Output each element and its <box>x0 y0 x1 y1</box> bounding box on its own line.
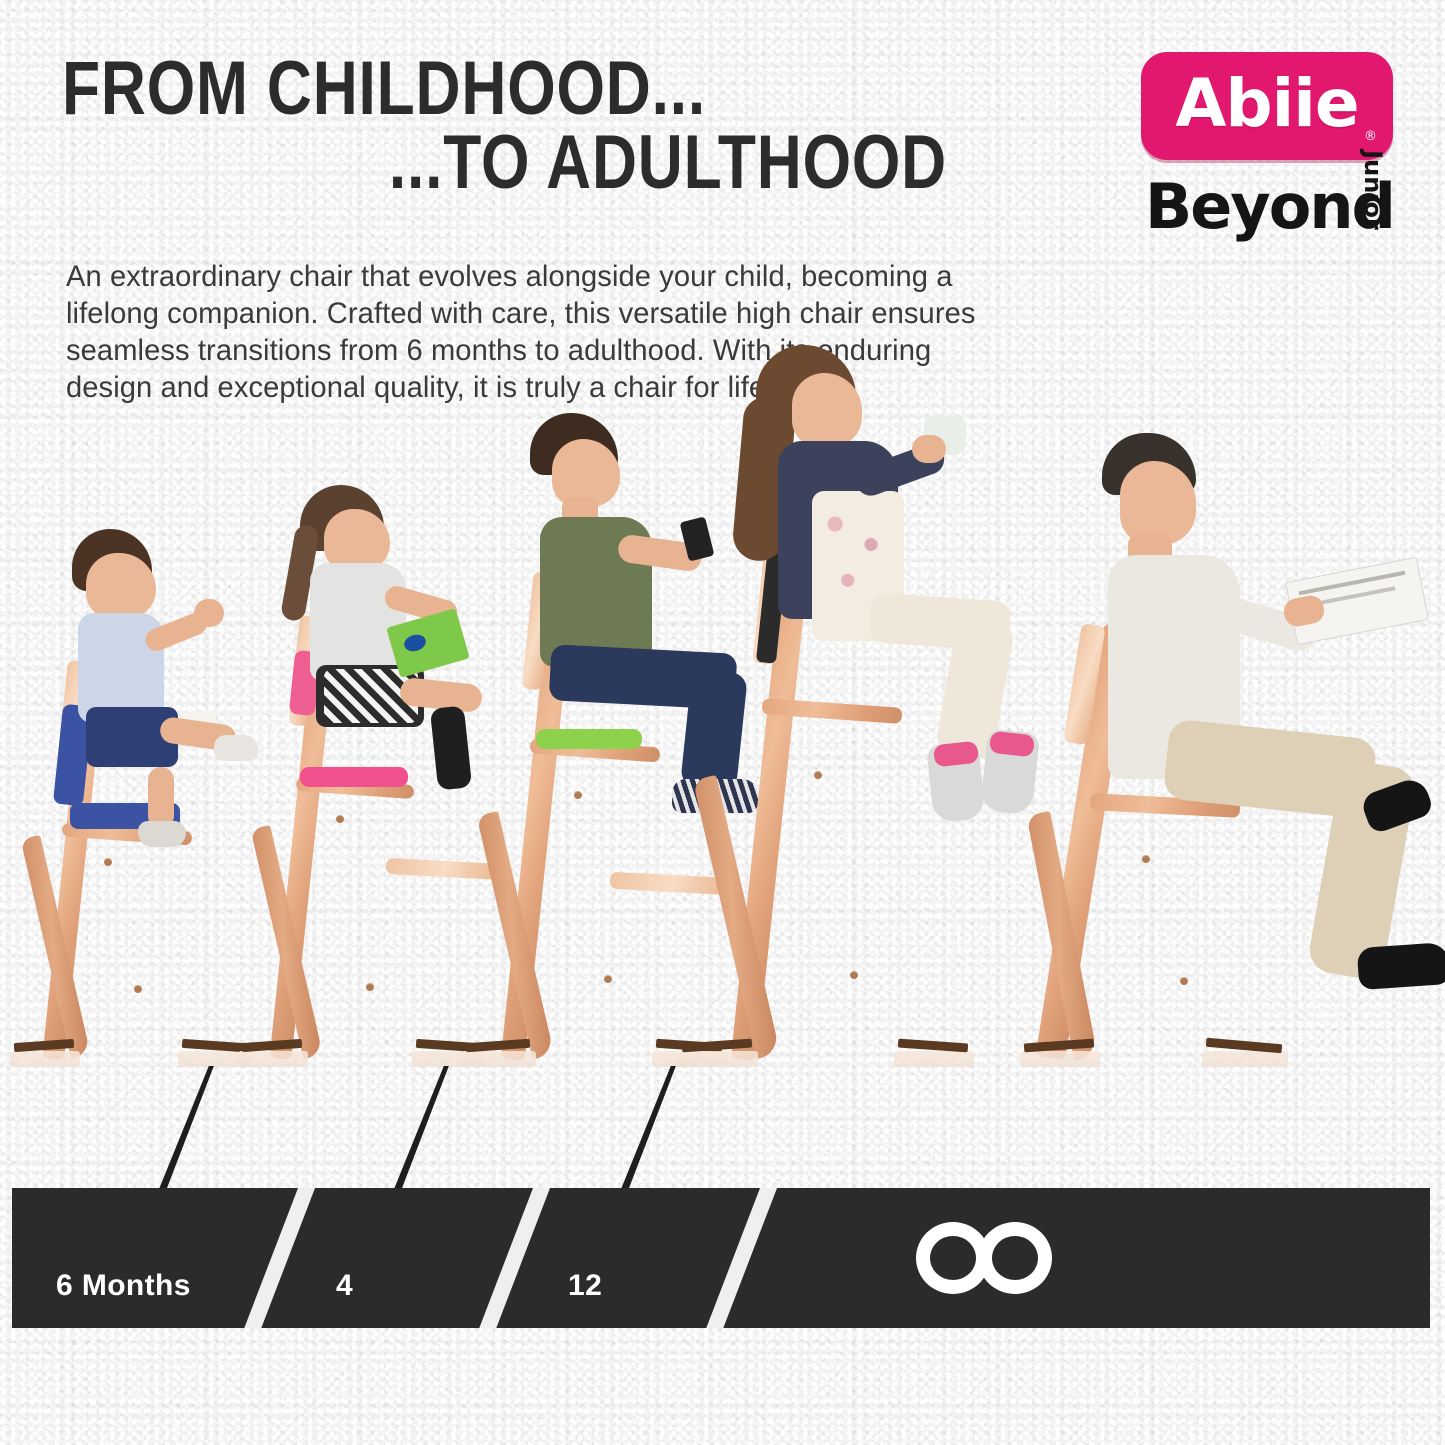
age-range-banner: 6 Months to 36 Months 4 Years Old 12 Yea… <box>12 1188 1430 1328</box>
person-baby <box>62 529 232 829</box>
banner-segment-toddler-line1: 4 <box>336 1269 353 1302</box>
girl-top <box>310 563 406 681</box>
chair-floor-pad-front <box>678 1051 758 1067</box>
banner-segment-child: 12 Years Old <box>568 1230 710 1328</box>
headline-block: FROM CHILDHOOD... ...TO ADULTHOOD <box>0 52 965 200</box>
logo-badge: Abiie ® <box>1141 52 1393 160</box>
chair-floor-pad-front <box>1020 1051 1100 1067</box>
baby-hand <box>194 599 224 627</box>
person-man <box>1072 433 1445 1033</box>
banner-segment-infant: 6 Months to 36 Months <box>56 1230 246 1328</box>
person-woman <box>734 345 1034 845</box>
figure-woman <box>678 475 1018 1075</box>
chair-screw <box>850 971 858 979</box>
figure-baby <box>10 475 270 1075</box>
brand-logo: Abiie ® Beyond Junior <box>1141 52 1409 252</box>
figure-man <box>1020 475 1440 1075</box>
man-sock-foot <box>1357 942 1445 990</box>
chair-floor-pad-rear <box>894 1051 974 1067</box>
logo-subtitle: Beyond Junior <box>1141 166 1409 252</box>
headline-line-2: ...TO ADULTHOOD <box>170 126 947 200</box>
chair-screw <box>134 985 142 993</box>
registered-trademark-icon: ® <box>1364 129 1377 144</box>
infinity-ring-right <box>978 1222 1052 1294</box>
chair-floor-pad-front <box>10 1051 80 1067</box>
banner-divider-2 <box>472 1188 554 1328</box>
chair-floor-pad-front <box>238 1051 308 1067</box>
chair-screw <box>104 858 112 866</box>
chair-screw <box>336 815 344 823</box>
chair-floor-pad-front <box>462 1051 536 1067</box>
infographic-page: FROM CHILDHOOD... ...TO ADULTHOOD An ext… <box>0 0 1445 1445</box>
woman-hand <box>912 435 946 463</box>
banner-segment-toddler: 4 Years Old <box>336 1230 478 1328</box>
growth-stage-illustration <box>0 455 1445 1075</box>
chair-screw <box>604 975 612 983</box>
banner-divider-3 <box>699 1188 781 1328</box>
banner-segment-child-line1: 12 <box>568 1269 602 1302</box>
chair-screw <box>366 983 374 991</box>
logo-tier-text: Junior <box>1359 150 1387 230</box>
banner-divider-1 <box>237 1188 319 1328</box>
chair-floor-pad-rear <box>1202 1051 1288 1067</box>
banner-segment-infant-line1: 6 Months <box>56 1269 191 1302</box>
logo-brand-text: Abiie <box>1175 71 1358 137</box>
infinity-icon <box>916 1222 1052 1294</box>
baby-sock <box>138 821 186 847</box>
headline-line-1: FROM CHILDHOOD... <box>62 52 802 126</box>
logo-product-text: Beyond <box>1145 170 1394 243</box>
woman-head <box>792 373 862 447</box>
baby-leg-lower <box>148 767 174 829</box>
